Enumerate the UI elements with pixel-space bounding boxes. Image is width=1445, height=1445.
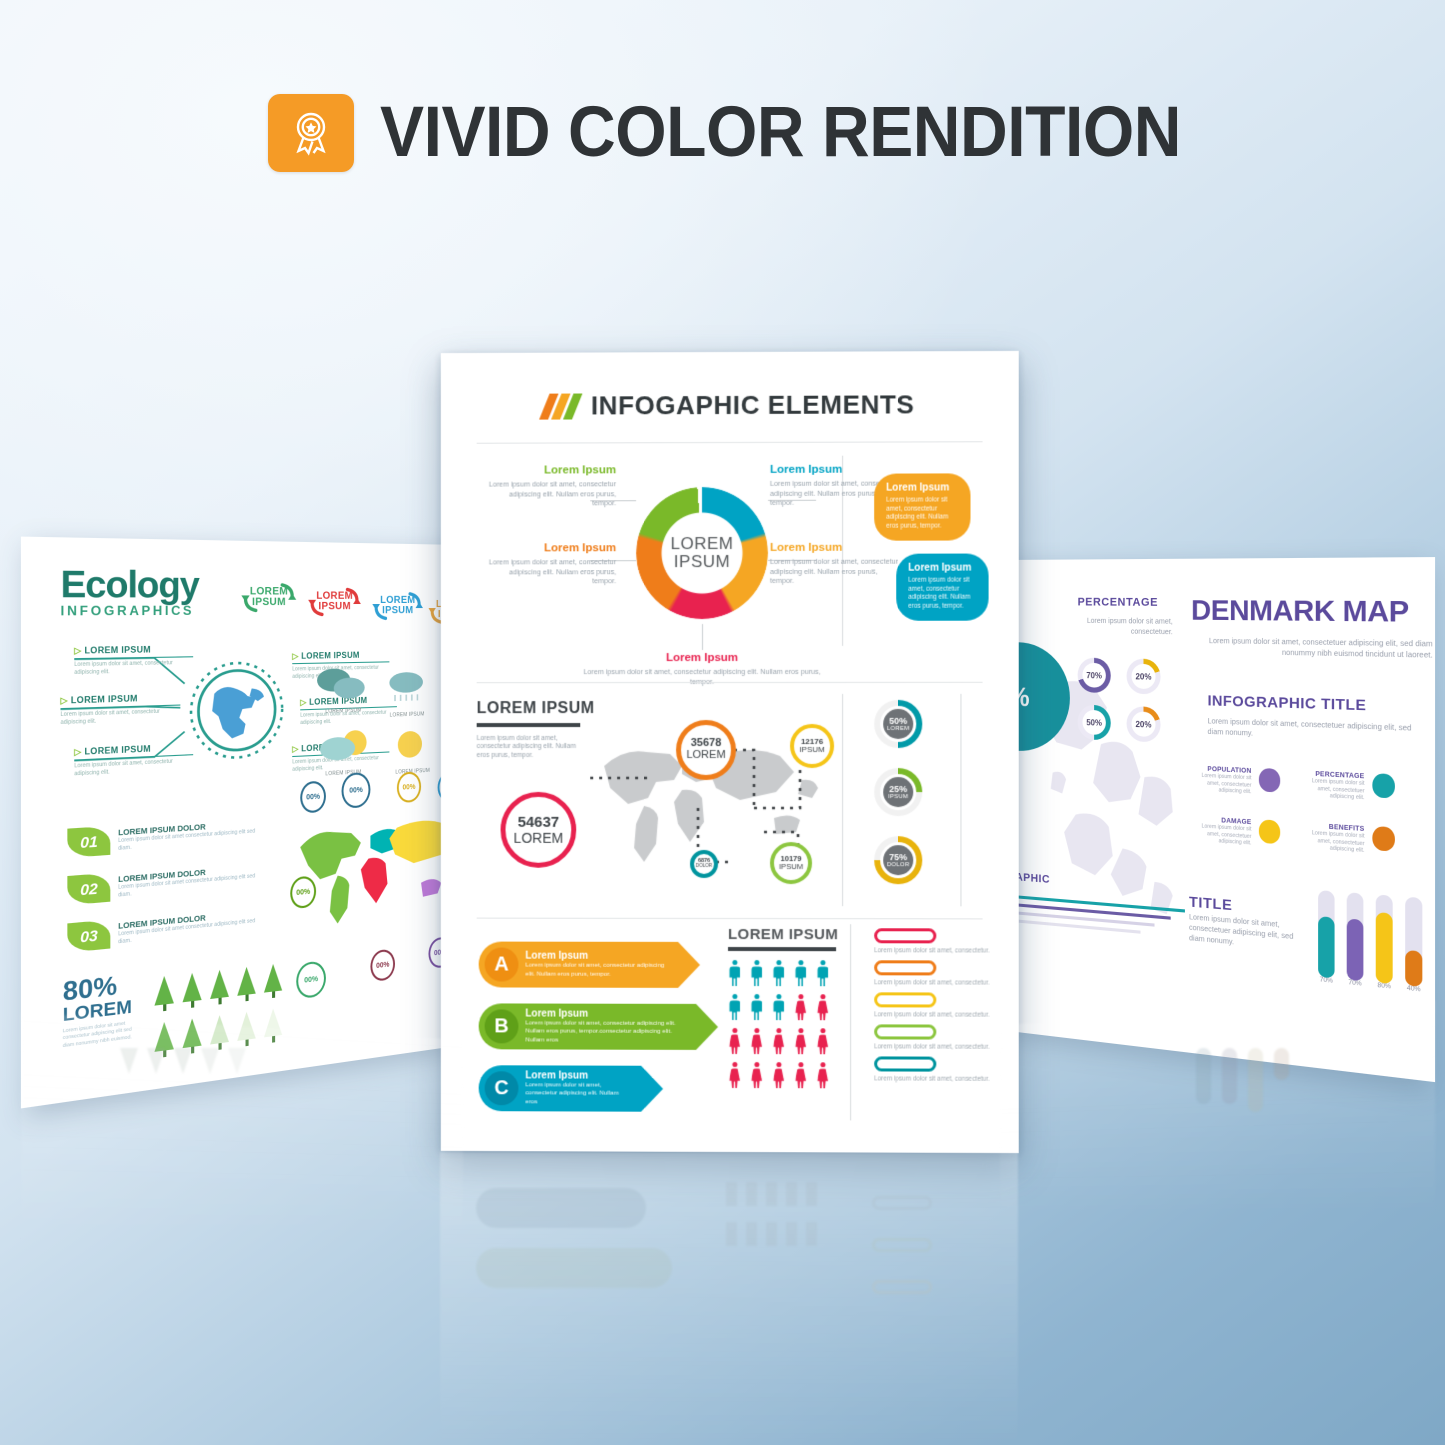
pill-shape: [874, 960, 936, 975]
center-poster-reflection: [440, 1152, 1018, 1445]
arrow-bar-c[interactable]: C Lorem Ipsum Lorem ipsum dolor sit amet…: [479, 1065, 663, 1112]
percentage-label: PERCENTAGE: [1078, 596, 1159, 609]
recycle-badge: LOREM IPSUM: [369, 589, 427, 624]
people-title: LOREM IPSUM: [728, 926, 838, 943]
percentage-ring: 20%: [1127, 658, 1161, 694]
sun-cloud-icon: [314, 727, 370, 767]
page-header: VIVID COLOR RENDITION: [268, 92, 1241, 173]
globe-label: ▷ LOREM IPSUM Lorem ipsum dolor sit amet…: [60, 692, 180, 726]
poster-header: INFOGAPHIC ELEMENTS: [441, 389, 1019, 422]
weather-item: LOREM IPSUM: [314, 665, 372, 715]
weather-label: LOREM IPSUM: [382, 711, 432, 719]
stat-circle: 12176 IPSUM: [790, 724, 834, 768]
arrow-bar-letter: B: [485, 1009, 519, 1043]
people-row: [728, 1028, 838, 1055]
legend-dot: [1259, 819, 1280, 844]
ecology-title-block: Ecology INFOGRAPHICS: [60, 567, 198, 619]
stat-circle: 35678 LOREM: [676, 720, 736, 780]
bar-label: 40%: [1405, 985, 1422, 993]
slash-stripes-icon: [544, 393, 577, 419]
people-row: [728, 994, 838, 1021]
legend-item-damage: DAMAGE Lorem ipsum dolor sit amet, conse…: [1191, 815, 1280, 849]
progress-ring: 75%DOLOR: [874, 836, 922, 884]
leaf-number: 03: [67, 919, 110, 952]
people-section: LOREM IPSUM: [728, 926, 838, 1089]
arrow-bar-letter: A: [485, 948, 519, 982]
percentage-ring: 20%: [1127, 706, 1161, 743]
infographic-section-body: Lorem ipsum dolor sit amet, consectetuer…: [1208, 717, 1426, 746]
globe-icon: [187, 658, 286, 770]
people-row: [728, 960, 838, 987]
recycle-badge-line2: IPSUM: [252, 598, 286, 609]
poster-mockup-scene: VIVID COLOR RENDITION Ecology INFOGRAPHI…: [0, 0, 1445, 1445]
pill-note: Lorem ipsum dolor sit amet, consectetur.: [874, 1011, 990, 1018]
donut-callout: Lorem Ipsum Lorem ipsum dolor sit amet, …: [489, 542, 617, 586]
leaf-number: 01: [67, 826, 110, 858]
legend-item-benefits: BENEFITS Lorem ipsum dolor sit amet, con…: [1301, 822, 1395, 857]
progress-ring: 25%IPSUM: [874, 768, 922, 816]
legend-item-percentage: PERCENTAGE Lorem ipsum dolor sit amet, c…: [1301, 770, 1395, 804]
donut-callout: Lorem Ipsum Lorem ipsum dolor sit amet, …: [770, 542, 898, 586]
people-row: [728, 1062, 838, 1089]
bar-chart: 70% 70% 80% 40%: [1318, 890, 1422, 994]
reflection-detail: [476, 1176, 986, 1346]
rounded-card[interactable]: Lorem Ipsum Lorem ipsum dolor sit amet, …: [896, 554, 988, 621]
legend-dot: [1372, 826, 1395, 852]
pill-note: Lorem ipsum dolor sit amet, consectetur.: [874, 979, 990, 986]
map-percent-bubble: 00%: [296, 960, 326, 999]
pill-list-item[interactable]: Lorem ipsum dolor sit amet, consectetur.: [874, 1024, 990, 1050]
recycle-badge-line2: IPSUM: [382, 606, 413, 616]
legend-dot: [1259, 768, 1280, 793]
pill-list-item[interactable]: Lorem ipsum dolor sit amet, consectetur.: [874, 1056, 990, 1082]
tree-chart-row2: [154, 1007, 282, 1051]
percentage-body: Lorem ipsum dolor sit amet, consectetuer…: [1070, 617, 1173, 638]
bar-label: 80%: [1376, 983, 1393, 991]
leaf-number: 02: [67, 873, 110, 906]
recycle-badge-line2: IPSUM: [318, 602, 350, 612]
pill-note: Lorem ipsum dolor sit amet, consectetur.: [874, 947, 990, 954]
leaf-list-item: 02 LOREM IPSUM DOLOR Lorem ipsum dolor s…: [67, 861, 261, 906]
progress-ring: 50%LOREM: [874, 700, 922, 748]
pill-shape: [874, 1056, 936, 1071]
infographic-elements-poster[interactable]: INFOGAPHIC ELEMENTS LOREM IPSUM Lorem Ip…: [441, 351, 1019, 1153]
rounded-card[interactable]: Lorem Ipsum Lorem ipsum dolor sit amet, …: [874, 473, 970, 540]
weather-item: LOREM IPSUM: [387, 726, 437, 776]
ecology-subtitle: INFOGRAPHICS: [60, 603, 198, 619]
pill-note: Lorem ipsum dolor sit amet, consectetur.: [874, 1043, 990, 1050]
highlight-stat: 80% LOREM Lorem ipsum dolor sit amet con…: [63, 972, 144, 1050]
pill-list-item[interactable]: Lorem ipsum dolor sit amet, consectetur.: [874, 992, 990, 1018]
pill-shape: [874, 928, 936, 943]
pill-list-item[interactable]: Lorem ipsum dolor sit amet, consectetur.: [874, 960, 990, 986]
award-ribbon-icon: [268, 94, 354, 172]
pill-list-item[interactable]: Lorem ipsum dolor sit amet, consectetur.: [874, 928, 990, 954]
denmark-body: Lorem ipsum dolor sit amet, consectetuer…: [1199, 637, 1432, 662]
globe-label: ▷ LOREM IPSUM Lorem ipsum dolor sit amet…: [74, 742, 193, 777]
pill-list: Lorem ipsum dolor sit amet, consectetur.…: [874, 928, 990, 1083]
ecology-poster[interactable]: Ecology INFOGRAPHICS LOREM IPSUM LOREM I…: [21, 537, 463, 1109]
leaf-list-item: 03 LOREM IPSUM DOLOR Lorem ipsum dolor s…: [67, 906, 261, 953]
world-map-colored: [290, 793, 457, 941]
pill-shape: [874, 992, 936, 1007]
arrow-bar-letter: C: [485, 1071, 519, 1105]
donut-center-label: LOREM IPSUM: [636, 487, 768, 619]
stat-circle: 10179 IPSUM: [770, 842, 812, 884]
clouds-icon: [314, 665, 370, 704]
percentage-ring: 50%: [1078, 704, 1111, 740]
ecology-title: Ecology: [60, 567, 198, 604]
chart-title: TITLE Lorem ipsum dolor sit amet, consec…: [1189, 893, 1303, 954]
map-section-heading: LOREM IPSUM Lorem ipsum dolor sit amet, …: [477, 700, 595, 761]
bar-label: 70%: [1318, 977, 1334, 985]
stat-circle: 54637 LOREM: [501, 792, 577, 868]
donut-chart: LOREM IPSUM: [636, 487, 768, 619]
percentage-ring: 70%: [1078, 657, 1111, 693]
map-percent-bubble: 00%: [370, 948, 395, 982]
arrow-bar-b[interactable]: B Lorem Ipsum Lorem ipsum dolor sit amet…: [479, 1003, 718, 1050]
legend-item-population: POPULATION Lorem ipsum dolor sit amet, c…: [1191, 765, 1280, 798]
weather-item: LOREM IPSUM: [382, 670, 432, 719]
leaf-list-item: 01 LOREM IPSUM DOLOR Lorem ipsum dolor s…: [67, 816, 261, 858]
tree-chart-row1: [154, 963, 282, 1006]
people-grid: [728, 960, 838, 1089]
bar-label: 70%: [1347, 980, 1364, 988]
legend-dot: [1372, 773, 1395, 798]
donut-callout: Lorem Ipsum Lorem ipsum dolor sit amet, …: [489, 464, 617, 508]
stat-circle: 6876 DOLOR: [690, 850, 718, 878]
page-title: VIVID COLOR RENDITION: [380, 92, 1181, 173]
arrow-bar-a[interactable]: A Lorem Ipsum Lorem ipsum dolor sit amet…: [479, 942, 700, 988]
sun-icon: [387, 726, 432, 765]
recycle-badge: LOREM IPSUM: [304, 584, 364, 620]
denmark-map-poster[interactable]: % DENMARK MAP Lorem ipsum dolor sit amet…: [1000, 557, 1435, 1082]
poster-title: INFOGAPHIC ELEMENTS: [591, 389, 914, 421]
globe-label: ▷ LOREM IPSUM Lorem ipsum dolor sit amet…: [74, 644, 193, 676]
denmark-title: DENMARK MAP: [1191, 594, 1409, 629]
recycle-badge: LOREM IPSUM: [237, 579, 300, 615]
pill-shape: [874, 1024, 936, 1039]
pill-note: Lorem ipsum dolor sit amet, consectetur.: [874, 1075, 990, 1082]
rain-cloud-icon: [382, 670, 430, 708]
weather-item: LOREM IPSUM: [314, 727, 372, 779]
